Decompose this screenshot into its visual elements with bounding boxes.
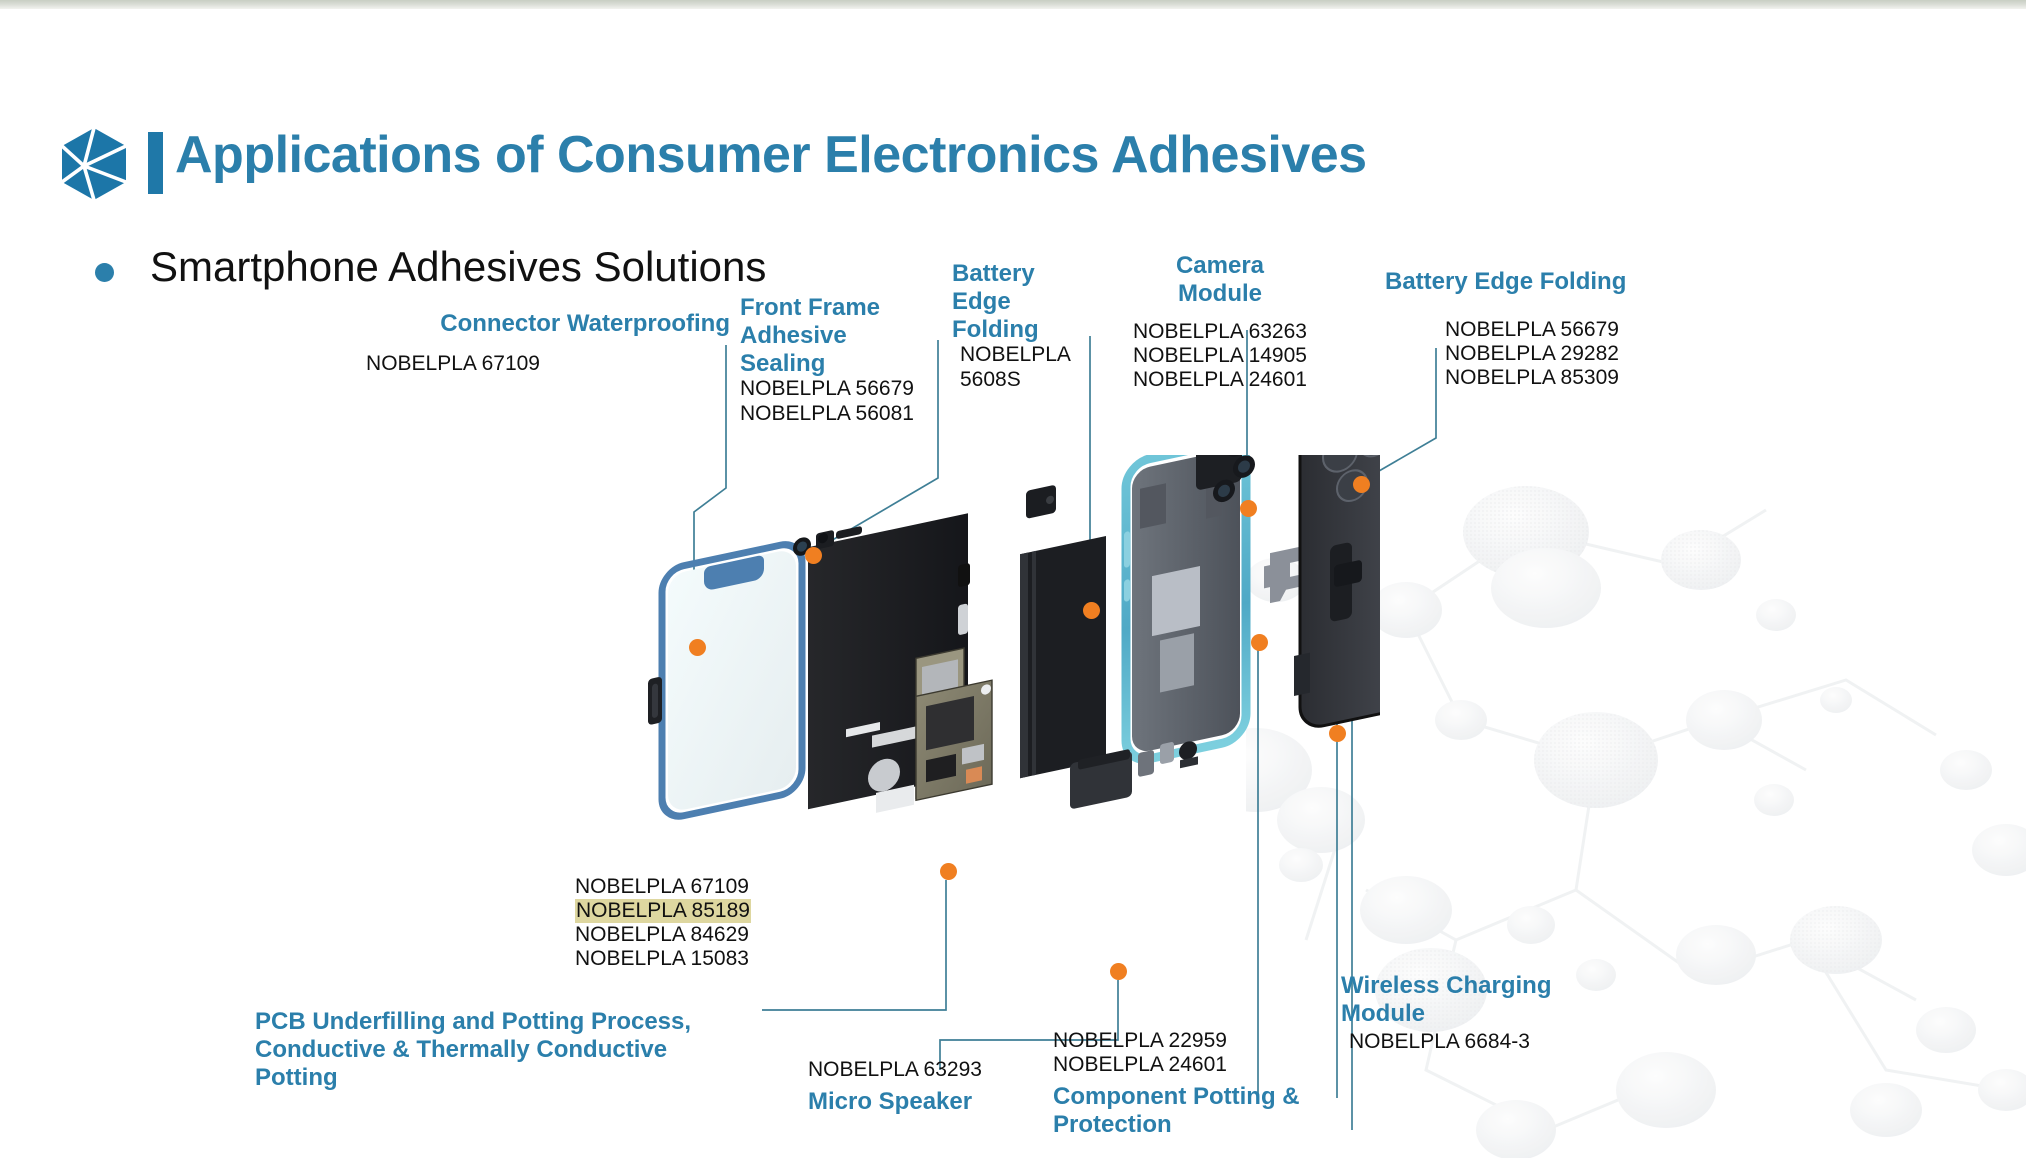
callout-heading-line-1: Camera: [1120, 252, 1320, 280]
callout-code-line-2: 5608S: [952, 368, 1082, 392]
callout-code-2: NOBELPLA 14905: [1120, 344, 1320, 368]
section-subtitle: Smartphone Adhesives Solutions: [150, 243, 766, 291]
callout-dot-micro-speaker: [1110, 963, 1127, 980]
callout-heading-line-3: Folding: [952, 316, 1082, 344]
callout-code-1: NOBELPLA 22959: [1053, 1029, 1373, 1053]
callout-pcb-underfilling-potting: PCB Underfilling and Potting Process, Co…: [255, 1008, 785, 1091]
slide-canvas: Applications of Consumer Electronics Adh…: [0, 0, 2026, 1158]
callout-code-3: NOBELPLA 84629: [575, 923, 895, 947]
callout-heading-line-1: Wireless Charging: [1341, 972, 1671, 1000]
callout-heading-line-2: Module: [1120, 280, 1320, 308]
callout-connector-waterproofing: Connector Waterproofing NOBELPLA 67109: [330, 310, 730, 376]
callout-code: NOBELPLA 63293: [808, 1058, 1068, 1082]
callout-dot-battery-edge-left: [1083, 602, 1100, 619]
callout-heading-line-1: Front Frame: [740, 294, 940, 322]
callout-heading: Battery Edge Folding: [1385, 268, 1705, 296]
callout-front-frame-adhesive-sealing: Front Frame Adhesive Sealing NOBELPLA 56…: [740, 294, 940, 426]
callout-heading-line-2: Adhesive: [740, 322, 940, 350]
bullet-dot-icon: [95, 263, 114, 282]
callout-code-1: NOBELPLA 56679: [740, 377, 940, 401]
callout-heading-line-3: Potting: [255, 1064, 785, 1092]
callout-dot-component-potting-a: [1251, 634, 1268, 651]
callout-code-1: NOBELPLA 67109: [575, 875, 895, 899]
callout-code-2-highlighted: NOBELPLA 85189: [575, 899, 751, 923]
callout-camera-module: Camera Module NOBELPLA 63263 NOBELPLA 14…: [1120, 252, 1320, 392]
callout-code-3: NOBELPLA 24601: [1120, 368, 1320, 392]
callout-heading-line-2: Module: [1341, 1000, 1671, 1028]
callout-component-potting-protection: NOBELPLA 22959 NOBELPLA 24601 Component …: [1053, 1029, 1373, 1139]
callout-code: NOBELPLA 6684-3: [1341, 1030, 1671, 1054]
callout-heading-line-2: Conductive & Thermally Conductive: [255, 1036, 785, 1064]
callout-dot-component-potting-b: [1329, 725, 1346, 742]
callout-heading-line-1: PCB Underfilling and Potting Process,: [255, 1008, 785, 1036]
callout-heading-line-3: Sealing: [740, 350, 940, 378]
callout-dot-pcb-underfilling: [940, 863, 957, 880]
callout-dot-camera-module: [1240, 500, 1257, 517]
callout-wireless-charging-module: Wireless Charging Module NOBELPLA 6684-3: [1341, 972, 1671, 1054]
callout-micro-speaker: NOBELPLA 63293 Micro Speaker: [808, 1058, 1068, 1116]
callout-dot-connector-waterproofing: [689, 639, 706, 656]
callout-code-line-1: NOBELPLA: [952, 343, 1082, 367]
callout-code: NOBELPLA 67109: [330, 352, 730, 376]
callout-dot-front-frame: [805, 547, 822, 564]
top-strip: [0, 0, 2026, 9]
callout-dot-battery-edge-right: [1353, 476, 1370, 493]
callout-code-3: NOBELPLA 85309: [1385, 366, 1705, 390]
logo-bar-icon: [148, 132, 163, 194]
callout-code-1: NOBELPLA 56679: [1385, 318, 1705, 342]
callout-heading-line-1: Battery: [952, 260, 1082, 288]
callout-code-2: NOBELPLA 56081: [740, 402, 940, 426]
callout-code-1: NOBELPLA 63263: [1120, 320, 1320, 344]
hexagon-facet-logo-icon: [58, 126, 130, 202]
callout-heading-line-2: Protection: [1053, 1111, 1373, 1139]
callout-battery-edge-folding-right: Battery Edge Folding NOBELPLA 56679 NOBE…: [1385, 268, 1705, 390]
page-title: Applications of Consumer Electronics Adh…: [175, 125, 1367, 185]
callout-heading-line-1: Component Potting &: [1053, 1083, 1373, 1111]
callout-code-4: NOBELPLA 15083: [575, 947, 895, 971]
callout-code-2: NOBELPLA 29282: [1385, 342, 1705, 366]
callout-pcb-codes: NOBELPLA 67109 NOBELPLA 85189 NOBELPLA 8…: [575, 875, 895, 972]
callout-heading-line-2: Edge: [952, 288, 1082, 316]
callout-heading: Micro Speaker: [808, 1088, 1068, 1116]
callout-heading: Connector Waterproofing: [330, 310, 730, 338]
callout-battery-edge-folding-left: Battery Edge Folding NOBELPLA 5608S: [952, 260, 1082, 392]
callout-code-2: NOBELPLA 24601: [1053, 1053, 1373, 1077]
